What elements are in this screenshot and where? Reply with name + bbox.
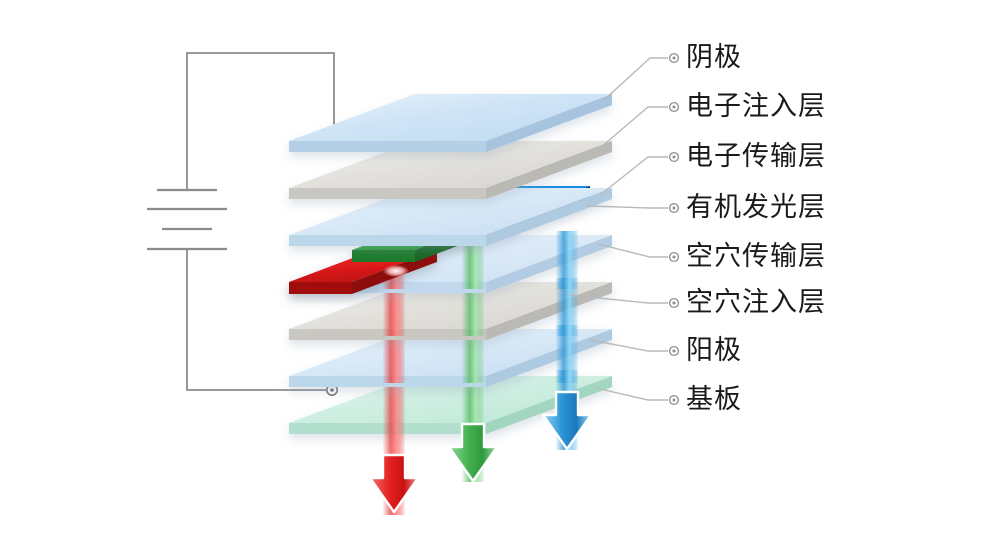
label-substrate: 基板 bbox=[686, 386, 742, 413]
label-organic-emissive: 有机发光层 bbox=[686, 194, 826, 221]
leader-substrate bbox=[596, 388, 668, 400]
red-glow-dot bbox=[383, 265, 409, 277]
red-light-arrow bbox=[370, 455, 418, 512]
battery-symbol bbox=[147, 190, 227, 249]
oled-structure-diagram: 阴极 电子注入层 电子传输层 有机发光层 空穴传输层 空穴注入层 阳极 基板 bbox=[0, 0, 982, 557]
leader-cathode bbox=[605, 58, 668, 99]
anode-wire bbox=[187, 249, 326, 390]
leader-hole-transport bbox=[598, 244, 668, 257]
leader-anode bbox=[590, 340, 668, 351]
battery-circuit bbox=[147, 53, 339, 395]
label-electron-injection: 电子注入层 bbox=[686, 93, 826, 120]
leader-bullets bbox=[670, 54, 679, 405]
leader-organic-emissive bbox=[588, 206, 668, 208]
cathode-wire bbox=[187, 53, 334, 190]
label-electron-transport: 电子传输层 bbox=[686, 143, 826, 170]
label-anode: 阳极 bbox=[686, 337, 742, 364]
diagram-canvas bbox=[0, 0, 982, 557]
label-cathode: 阴极 bbox=[686, 44, 742, 71]
label-hole-transport: 空穴传输层 bbox=[686, 243, 826, 270]
label-hole-injection: 空穴注入层 bbox=[686, 289, 826, 316]
